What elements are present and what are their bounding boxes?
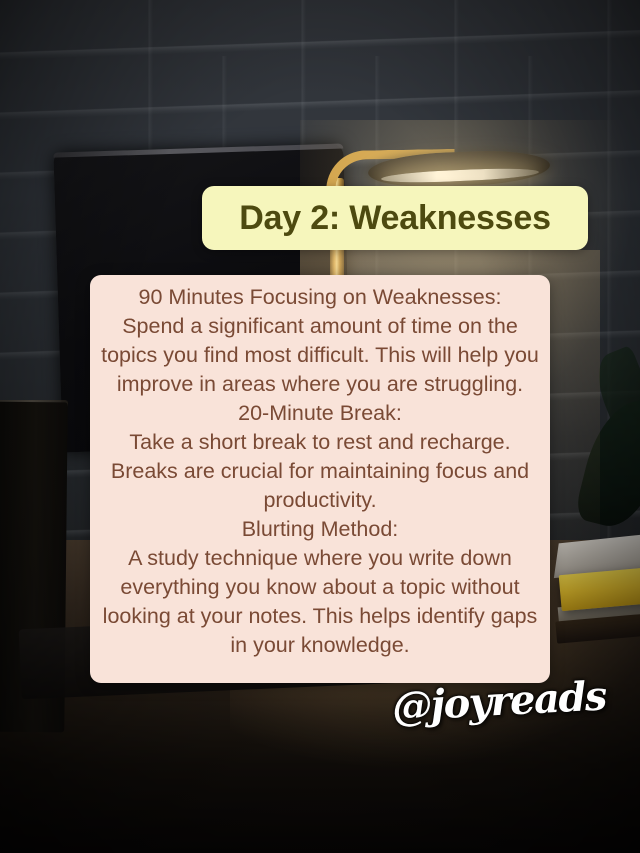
content-body-text: 90 Minutes Focusing on Weaknesses: Spend… [100,283,540,660]
title-banner: Day 2: Weaknesses [202,186,588,250]
content-card: 90 Minutes Focusing on Weaknesses: Spend… [90,275,550,683]
page-title: Day 2: Weaknesses [239,199,551,238]
poster-canvas: Day 2: Weaknesses 90 Minutes Focusing on… [0,0,640,853]
